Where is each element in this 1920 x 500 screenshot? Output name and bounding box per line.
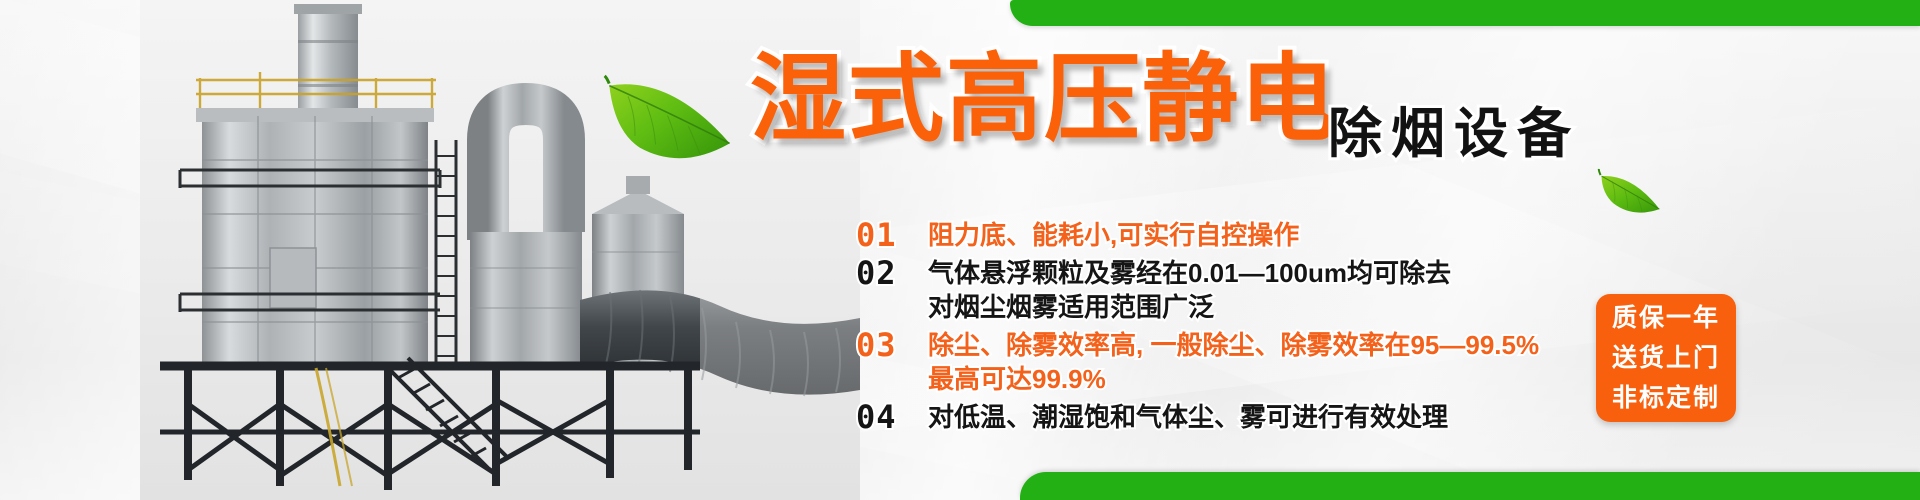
leaf-icon bbox=[578, 57, 746, 188]
list-item: 01阻力底、能耗小,可实行自控操作 bbox=[856, 218, 1876, 252]
feature-text: 除尘、除雾效率高, 一般除尘、除雾效率在95—99.5%最高可达99.9% bbox=[928, 328, 1539, 396]
feature-text: 对低温、潮湿饱和气体尘、雾可进行有效处理 bbox=[928, 400, 1448, 434]
feature-number: 01 bbox=[856, 218, 928, 252]
headline-group: 湿式高压静电 除烟设备 bbox=[740, 52, 1620, 172]
feature-line-2: 对烟尘烟雾适用范围广泛 bbox=[928, 290, 1451, 324]
feature-line-1: 对低温、潮湿饱和气体尘、雾可进行有效处理 bbox=[928, 402, 1448, 432]
feature-text: 阻力底、能耗小,可实行自控操作 bbox=[928, 218, 1299, 252]
feature-line-2: 最高可达99.9% bbox=[928, 362, 1539, 396]
service-badge: 质保一年 送货上门 非标定制 bbox=[1596, 294, 1736, 422]
feature-line-1: 气体悬浮颗粒及雾经在0.01—100um均可除去 bbox=[928, 258, 1451, 288]
page-subtitle: 除烟设备 bbox=[1328, 107, 1580, 161]
feature-line-1: 阻力底、能耗小,可实行自控操作 bbox=[928, 220, 1299, 250]
feature-text: 气体悬浮颗粒及雾经在0.01—100um均可除去对烟尘烟雾适用范围广泛 bbox=[928, 256, 1451, 324]
feature-line-1: 除尘、除雾效率高, 一般除尘、除雾效率在95—99.5% bbox=[928, 330, 1539, 360]
feature-number: 02 bbox=[856, 256, 928, 290]
page-title: 湿式高压静电 bbox=[750, 52, 1338, 148]
badge-line-3: 非标定制 bbox=[1612, 378, 1720, 418]
green-bar-top bbox=[1010, 0, 1920, 26]
leaf-icon bbox=[1591, 167, 1665, 217]
badge-line-1: 质保一年 bbox=[1612, 298, 1720, 338]
promo-banner: 湿式高压静电 除烟设备 01阻力底、能耗小,可实行自控操作 02气体悬浮颗粒及雾… bbox=[0, 0, 1920, 500]
feature-number: 03 bbox=[856, 328, 928, 362]
badge-line-2: 送货上门 bbox=[1612, 338, 1720, 378]
feature-number: 04 bbox=[856, 400, 928, 434]
green-bar-bottom bbox=[1020, 472, 1920, 500]
